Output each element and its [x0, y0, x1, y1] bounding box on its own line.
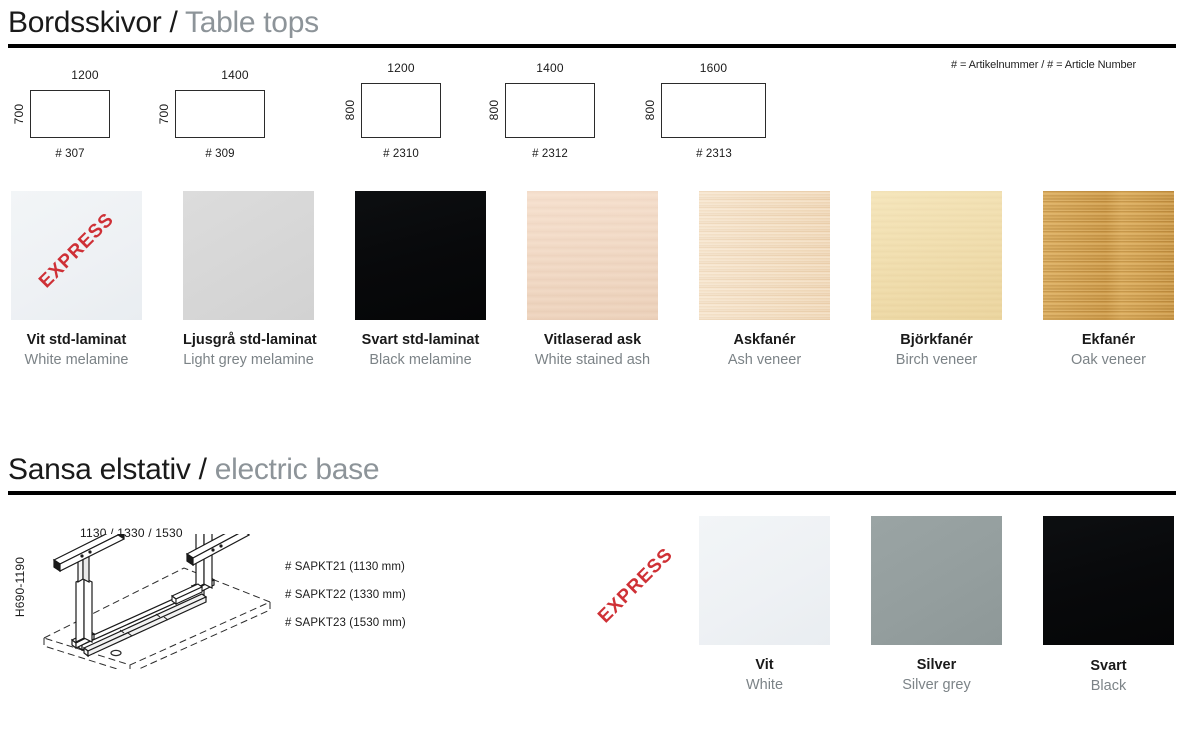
swatch-caption: Ljusgrå std-laminat Light grey melamine	[183, 331, 314, 370]
table-top-rect	[361, 83, 441, 138]
table-top-depth-label: 800	[643, 95, 657, 125]
swatch-name-swedish: Svart std-laminat	[355, 331, 486, 351]
material-swatch-bjorkfaner[interactable]: Björkfanér Birch veneer	[871, 191, 1002, 320]
article-number-legend: # = Artikelnummer / # = Article Number	[951, 59, 1136, 71]
table-top-rect	[30, 90, 110, 138]
table-top-article-number: # 2312	[483, 148, 617, 160]
swatch-caption: Vit std-laminat White melamine	[11, 331, 142, 370]
swatch-name-english: Silver grey	[871, 676, 1002, 696]
section-divider-electric-base	[8, 491, 1176, 495]
finish-swatch-silver[interactable]: Silver Silver grey	[871, 516, 1002, 645]
express-badge: EXPRESS	[580, 530, 692, 642]
section-title-table-tops: Bordsskivor / Table tops	[8, 8, 319, 38]
section-divider-table-tops	[8, 44, 1176, 48]
swatch-name-english: Light grey melamine	[183, 351, 314, 371]
swatch-name-swedish: Silver	[871, 656, 1002, 676]
table-top-drawing: 1600 800 # 2313	[661, 61, 791, 166]
material-swatch-vit-std-laminat[interactable]: EXPRESS Vit std-laminat White melamine	[11, 191, 142, 320]
table-top-depth-label: 800	[487, 95, 501, 125]
table-top-depth-label: 800	[343, 95, 357, 125]
base-article-number: # SAPKT23 (1530 mm)	[285, 617, 406, 629]
base-article-list: # SAPKT21 (1130 mm) # SAPKT22 (1330 mm) …	[285, 561, 406, 645]
swatch-name-swedish: Vitlaserad ask	[527, 331, 658, 351]
swatch-caption: Svart std-laminat Black melamine	[355, 331, 486, 370]
swatch-name-swedish: Vit	[699, 656, 830, 676]
table-top-drawing: 1400 700 # 309	[175, 68, 295, 168]
section-title-swedish: Bordsskivor	[8, 6, 161, 39]
section-title-swedish: Sansa elstativ	[8, 453, 191, 486]
table-top-width-label: 1400	[175, 68, 295, 82]
swatch-name-swedish: Björkfanér	[871, 331, 1002, 351]
swatch-color	[355, 191, 486, 320]
swatch-caption: Vitlaserad ask White stained ash	[527, 331, 658, 370]
finish-swatch-vit[interactable]: Vit White	[699, 516, 830, 645]
swatch-caption: Silver Silver grey	[871, 656, 1002, 695]
section-title-electric-base: Sansa elstativ / electric base	[8, 455, 379, 485]
swatch-name-english: White stained ash	[527, 351, 658, 371]
swatch-color	[1043, 191, 1174, 320]
swatch-caption: Vit White	[699, 656, 830, 695]
section-title-separator: /	[199, 453, 207, 486]
swatch-name-swedish: Ekfanér	[1043, 331, 1174, 351]
swatch-name-swedish: Svart	[1043, 657, 1174, 677]
table-top-depth-label: 700	[12, 99, 26, 129]
section-title-english: electric base	[215, 453, 380, 486]
swatch-color	[871, 516, 1002, 645]
table-top-rect	[661, 83, 766, 138]
finish-swatch-svart[interactable]: Svart Black	[1043, 516, 1174, 645]
swatch-color	[1043, 516, 1174, 645]
swatch-name-english: White melamine	[11, 351, 142, 371]
material-swatch-svart-std-laminat[interactable]: Svart std-laminat Black melamine	[355, 191, 486, 320]
table-top-rect	[175, 90, 265, 138]
table-top-drawing: 1400 800 # 2312	[505, 61, 625, 166]
table-top-rect	[505, 83, 595, 138]
table-top-drawing: 1200 700 # 307	[30, 68, 140, 168]
swatch-color	[699, 191, 830, 320]
swatch-color	[527, 191, 658, 320]
swatch-caption: Svart Black	[1043, 657, 1174, 696]
material-swatch-ekfaner[interactable]: Ekfanér Oak veneer	[1043, 191, 1174, 320]
swatch-name-english: Black melamine	[355, 351, 486, 371]
table-top-width-label: 1600	[661, 61, 766, 75]
swatch-name-english: Ash veneer	[699, 351, 830, 371]
table-top-width-label: 1200	[361, 61, 441, 75]
electric-base-right-arm	[185, 534, 265, 594]
table-top-article-number: # 2310	[337, 148, 465, 160]
right-arm-svg	[185, 534, 265, 594]
swatch-caption: Askfanér Ash veneer	[699, 331, 830, 370]
material-swatch-vitlaserad-ask[interactable]: Vitlaserad ask White stained ash	[527, 191, 658, 320]
base-height-label: H690-1190	[13, 549, 27, 625]
swatch-name-english: Black	[1043, 677, 1174, 697]
material-swatch-ljusgra-std-laminat[interactable]: Ljusgrå std-laminat Light grey melamine	[183, 191, 314, 320]
swatch-name-english: Birch veneer	[871, 351, 1002, 371]
swatch-color	[699, 516, 830, 645]
table-top-width-label: 1200	[30, 68, 140, 82]
swatch-color	[183, 191, 314, 320]
swatch-name-english: Oak veneer	[1043, 351, 1174, 371]
swatch-color	[871, 191, 1002, 320]
swatch-caption: Björkfanér Birch veneer	[871, 331, 1002, 370]
table-top-depth-label: 700	[157, 99, 171, 129]
table-top-article-number: # 2313	[644, 148, 784, 160]
swatch-name-swedish: Ljusgrå std-laminat	[183, 331, 314, 351]
swatch-caption: Ekfanér Oak veneer	[1043, 331, 1174, 370]
section-title-english: Table tops	[185, 6, 319, 39]
table-top-article-number: # 309	[151, 148, 289, 160]
table-top-drawing: 1200 800 # 2310	[361, 61, 471, 166]
table-top-article-number: # 307	[6, 148, 134, 160]
material-swatch-askfaner[interactable]: Askfanér Ash veneer	[699, 191, 830, 320]
base-article-number: # SAPKT21 (1130 mm)	[285, 561, 406, 573]
swatch-name-english: White	[699, 676, 830, 696]
swatch-name-swedish: Askfanér	[699, 331, 830, 351]
section-title-separator: /	[169, 6, 177, 39]
swatch-name-swedish: Vit std-laminat	[11, 331, 142, 351]
base-article-number: # SAPKT22 (1330 mm)	[285, 589, 406, 601]
table-top-width-label: 1400	[505, 61, 595, 75]
